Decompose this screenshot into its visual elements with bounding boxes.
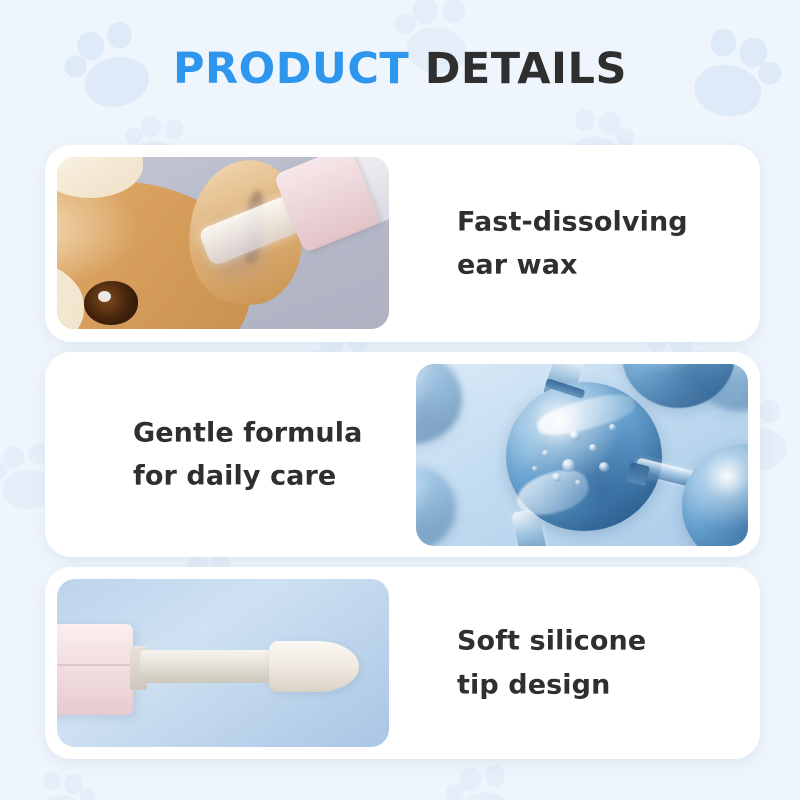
feature-text-1-line-1: Fast-dissolving bbox=[457, 200, 760, 244]
paw-print-icon bbox=[20, 760, 100, 800]
feature-text-2-line-2: for daily care bbox=[133, 455, 453, 499]
product-details-infographic: PRODUCT DETAILS Fast-dissolving ear wax bbox=[0, 0, 800, 800]
feature-card-gentle-formula: Gentle formula for daily care bbox=[45, 352, 760, 557]
feature-text-1: Fast-dissolving ear wax bbox=[457, 200, 760, 287]
corgi-ear-cleaning-photo bbox=[57, 157, 389, 329]
molecule-structure-photo bbox=[416, 364, 748, 546]
title-word-details: DETAILS bbox=[425, 44, 627, 94]
feature-text-2-line-1: Gentle formula bbox=[133, 411, 453, 455]
page-title: PRODUCT DETAILS bbox=[0, 48, 800, 91]
title-word-product: PRODUCT bbox=[173, 44, 409, 94]
silicone-dropper-photo bbox=[57, 579, 389, 747]
paw-print-icon bbox=[440, 752, 532, 800]
feature-card-fast-dissolving: Fast-dissolving ear wax bbox=[45, 145, 760, 342]
feature-text-3-line-2: tip design bbox=[457, 663, 760, 707]
feature-card-soft-silicone: Soft silicone tip design bbox=[45, 567, 760, 759]
feature-text-3: Soft silicone tip design bbox=[457, 619, 760, 706]
feature-text-3-line-1: Soft silicone bbox=[457, 619, 760, 663]
feature-text-2: Gentle formula for daily care bbox=[133, 411, 453, 498]
feature-text-1-line-2: ear wax bbox=[457, 244, 760, 288]
